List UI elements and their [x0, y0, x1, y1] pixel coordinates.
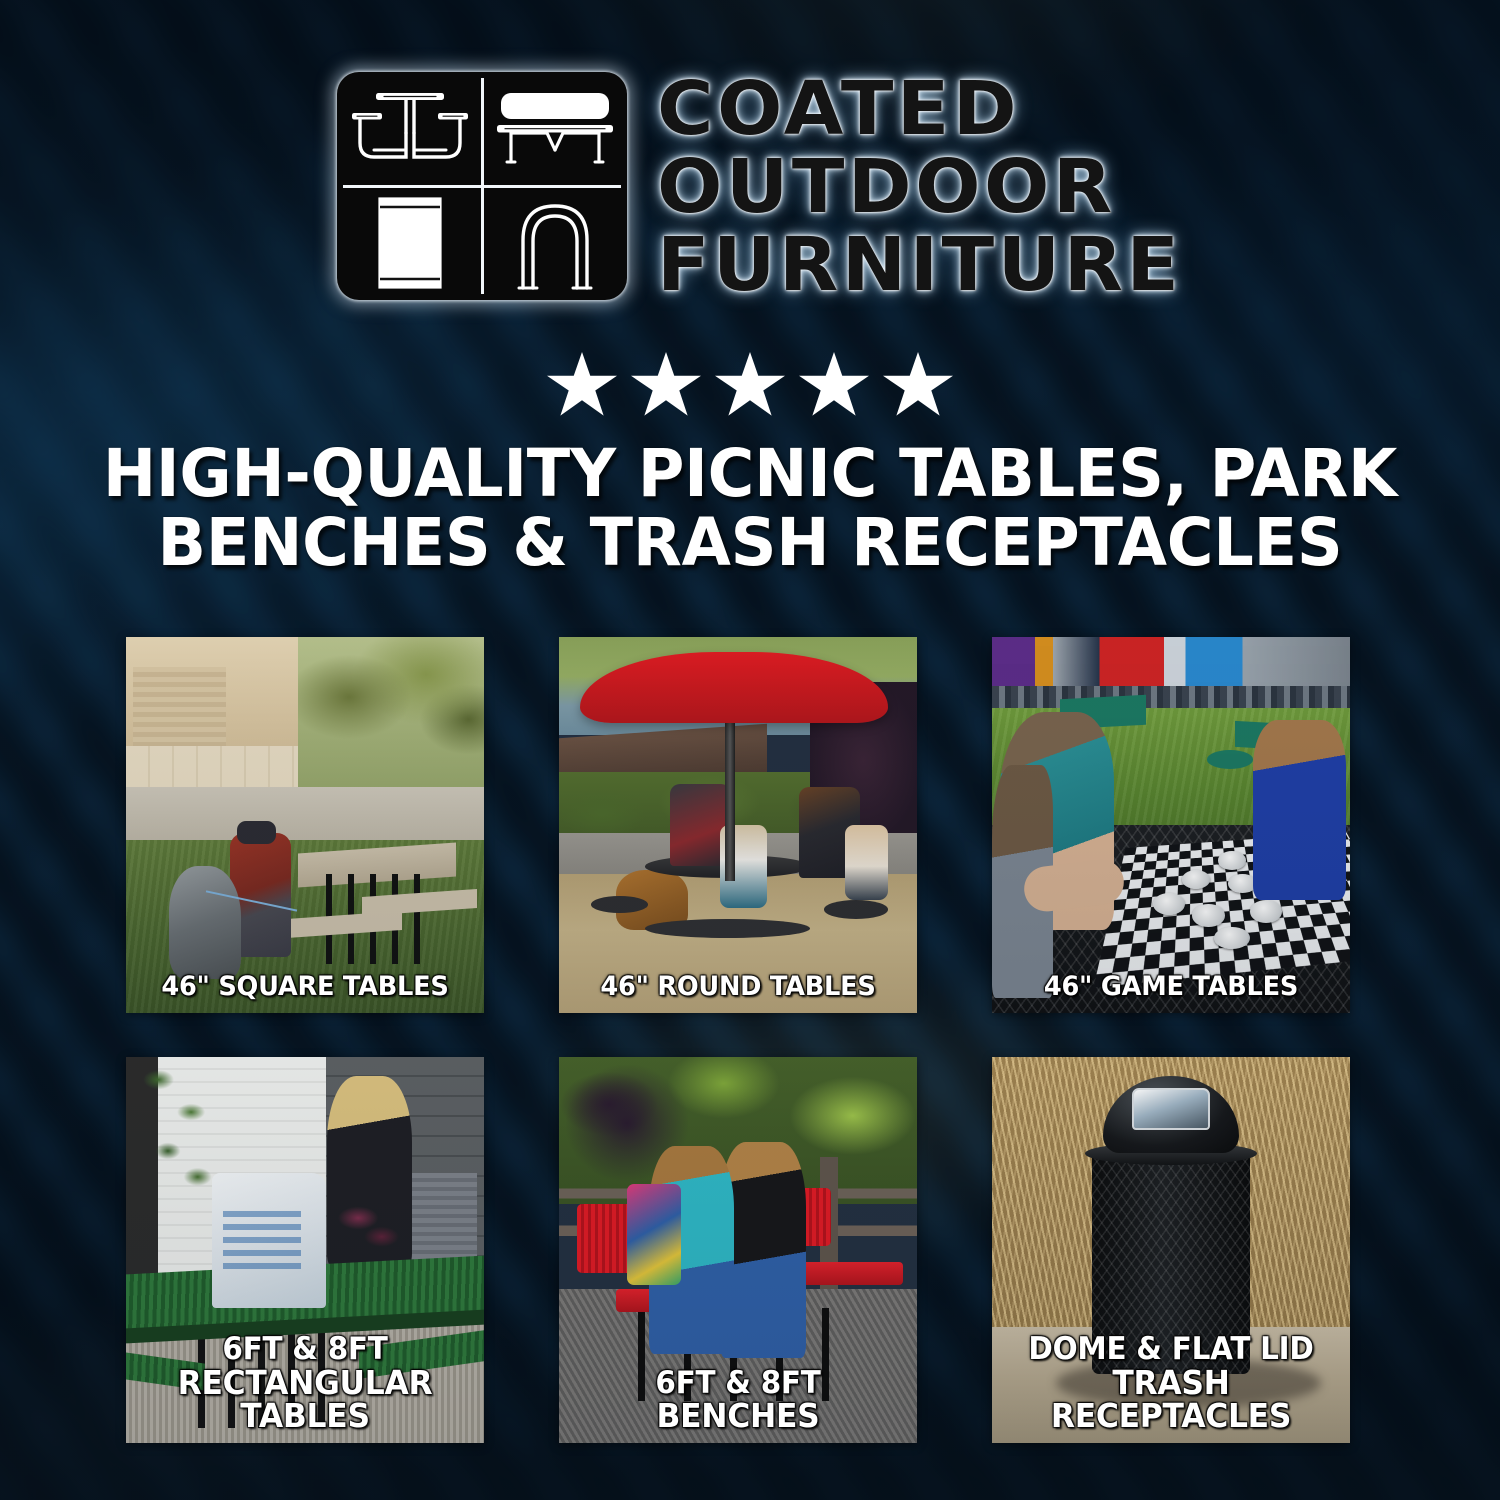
product-caption-line-2: TRASH RECEPTACLES: [1005, 1366, 1338, 1433]
star-rating: [0, 352, 1500, 419]
product-caption-line-1: 46" ROUND TABLES: [600, 971, 875, 1002]
headline: HIGH-QUALITY PICNIC TABLES, PARK BENCHES…: [84, 440, 1416, 577]
product-tile-benches[interactable]: 6FT & 8FT BENCHES: [559, 1057, 917, 1443]
poster-canvas: COATED OUTDOOR FURNITURE HIGH-QUALITY PI…: [0, 0, 1500, 1500]
product-caption-line-1: 6FT & 8FT: [572, 1368, 905, 1400]
bench-table-icon: [482, 72, 627, 186]
product-tile-rectangular-tables[interactable]: 6FT & 8FT RECTANGULAR TABLES: [126, 1057, 484, 1443]
product-caption-line-2: RECTANGULAR TABLES: [139, 1366, 472, 1433]
product-tile-round-tables[interactable]: 46" ROUND TABLES: [559, 637, 917, 1013]
coated-outdoor-furniture-logo-icon: [337, 72, 627, 300]
brand-line-outdoor: OUTDOOR: [657, 152, 1182, 223]
picnic-table-icon: [337, 72, 482, 186]
product-caption: 46" ROUND TABLES: [572, 973, 905, 1001]
star-icon: [547, 352, 617, 419]
product-tile-game-tables[interactable]: 46" GAME TABLES: [992, 637, 1350, 1013]
brand-line-furniture: FURNITURE: [657, 230, 1182, 301]
star-icon: [715, 352, 785, 419]
arch-bike-rack-icon: [482, 186, 627, 300]
brand-line-coated: COATED: [657, 74, 1182, 145]
product-photo-game-tables: [992, 637, 1350, 1013]
star-icon: [799, 352, 869, 419]
brand-wordmark: COATED OUTDOOR FURNITURE: [657, 72, 1162, 301]
trash-receptacle-icon: [337, 186, 482, 300]
product-tile-square-tables[interactable]: 46" SQUARE TABLES: [126, 637, 484, 1013]
headline-line-2: BENCHES & TRASH RECEPTACLES: [84, 509, 1416, 576]
product-caption: 6FT & 8FT BENCHES: [572, 1368, 905, 1433]
product-caption-line-1: 6FT & 8FT: [139, 1334, 472, 1366]
brand-logo: COATED OUTDOOR FURNITURE: [0, 72, 1500, 301]
product-caption-line-2: BENCHES: [572, 1399, 905, 1433]
product-caption-line-1: 46" GAME TABLES: [1044, 971, 1298, 1002]
product-photo-square-tables: [126, 637, 484, 1013]
product-caption: DOME & FLAT LID TRASH RECEPTACLES: [1005, 1334, 1338, 1433]
product-caption: 6FT & 8FT RECTANGULAR TABLES: [139, 1334, 472, 1433]
product-photo-round-tables: [559, 637, 917, 1013]
product-caption-line-1: DOME & FLAT LID: [1005, 1334, 1338, 1366]
product-caption-line-1: 46" SQUARE TABLES: [161, 971, 448, 1002]
star-icon: [883, 352, 953, 419]
headline-line-1: HIGH-QUALITY PICNIC TABLES, PARK: [103, 435, 1397, 512]
product-tile-trash-receptacles[interactable]: DOME & FLAT LID TRASH RECEPTACLES: [992, 1057, 1350, 1443]
product-grid: 46" SQUARE TABLES: [126, 637, 1375, 1443]
product-caption: 46" SQUARE TABLES: [139, 973, 472, 1001]
product-caption: 46" GAME TABLES: [1005, 973, 1338, 1001]
star-icon: [631, 352, 701, 419]
